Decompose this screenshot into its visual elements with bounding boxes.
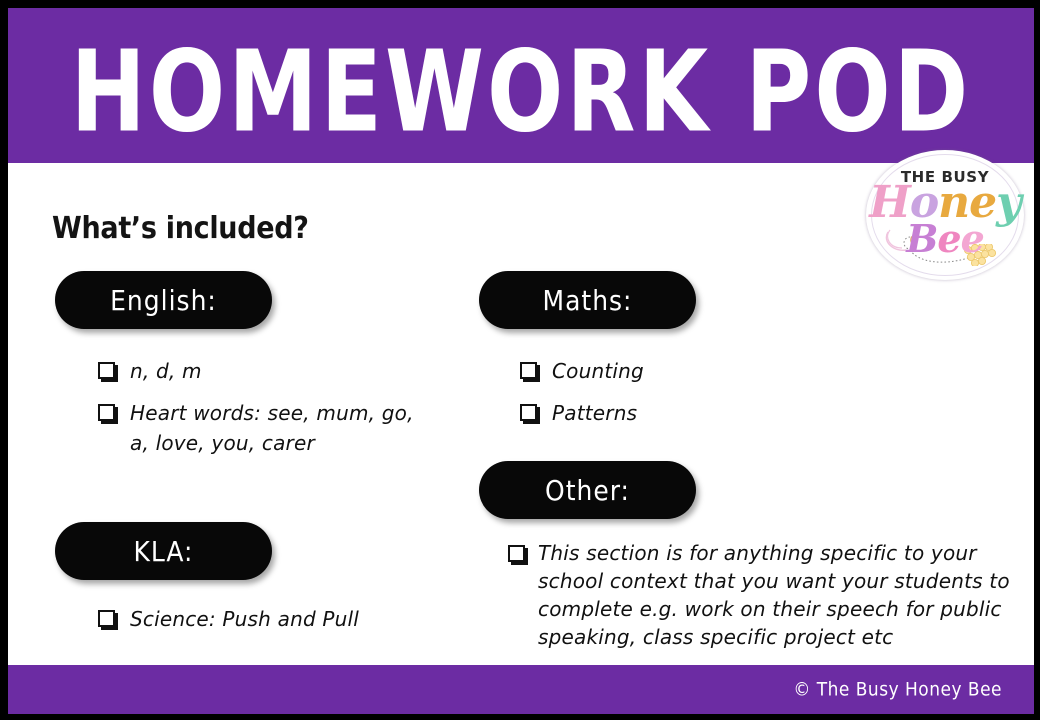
list-item: n, d, m — [98, 356, 428, 386]
list-item-label: This section is for anything specific to… — [538, 541, 1010, 649]
brand-logo: THE BUSY Honey Bee — [866, 150, 1028, 282]
list-item: Counting — [520, 356, 820, 386]
section-pill-other: Other: — [479, 461, 696, 519]
checkbox-icon[interactable] — [520, 362, 537, 379]
list-item: Patterns — [520, 398, 820, 428]
section-pill-other-label: Other: — [545, 474, 630, 506]
header-band: HOMEWORK POD — [8, 8, 1034, 163]
logo-bee-letter: e — [937, 216, 960, 261]
slide: HOMEWORK POD T — [0, 0, 1040, 720]
logo-bee-letter: B — [906, 216, 937, 261]
list-item-label: Heart words: see, mum, go, a, love, you,… — [130, 401, 414, 455]
page-title: HOMEWORK POD — [0, 14, 1040, 170]
checkbox-icon[interactable] — [98, 404, 115, 421]
list-item: This section is for anything specific to… — [508, 539, 1028, 651]
section-pill-maths: Maths: — [479, 271, 696, 329]
english-bullet-list: n, d, m Heart words: see, mum, go, a, lo… — [98, 356, 428, 470]
list-item-label: Counting — [552, 359, 644, 383]
logo-bee-letter: e — [961, 216, 984, 261]
maths-bullet-list: Counting Patterns — [520, 356, 820, 440]
section-pill-maths-label: Maths: — [543, 284, 633, 316]
checkbox-icon[interactable] — [520, 404, 537, 421]
footer-copyright: © The Busy Honey Bee — [793, 679, 1002, 701]
list-item-label: Science: Push and Pull — [130, 607, 359, 631]
checkbox-icon[interactable] — [98, 362, 115, 379]
list-item: Science: Push and Pull — [98, 604, 428, 634]
list-item-label: Patterns — [552, 401, 637, 425]
section-pill-english-label: English: — [110, 284, 217, 316]
section-pill-kla-label: KLA: — [134, 535, 194, 567]
checkbox-icon[interactable] — [508, 545, 525, 562]
list-item: Heart words: see, mum, go, a, love, you,… — [98, 398, 428, 458]
whats-included-heading: What’s included? — [52, 211, 309, 246]
section-pill-english: English: — [55, 271, 272, 329]
other-bullet-list: This section is for anything specific to… — [508, 539, 1028, 663]
checkbox-icon[interactable] — [98, 610, 115, 627]
kla-bullet-list: Science: Push and Pull — [98, 604, 428, 646]
footer-band: © The Busy Honey Bee — [8, 665, 1034, 720]
logo-bee-text: Bee — [866, 218, 1024, 260]
section-pill-kla: KLA: — [55, 522, 272, 580]
list-item-label: n, d, m — [130, 359, 202, 383]
